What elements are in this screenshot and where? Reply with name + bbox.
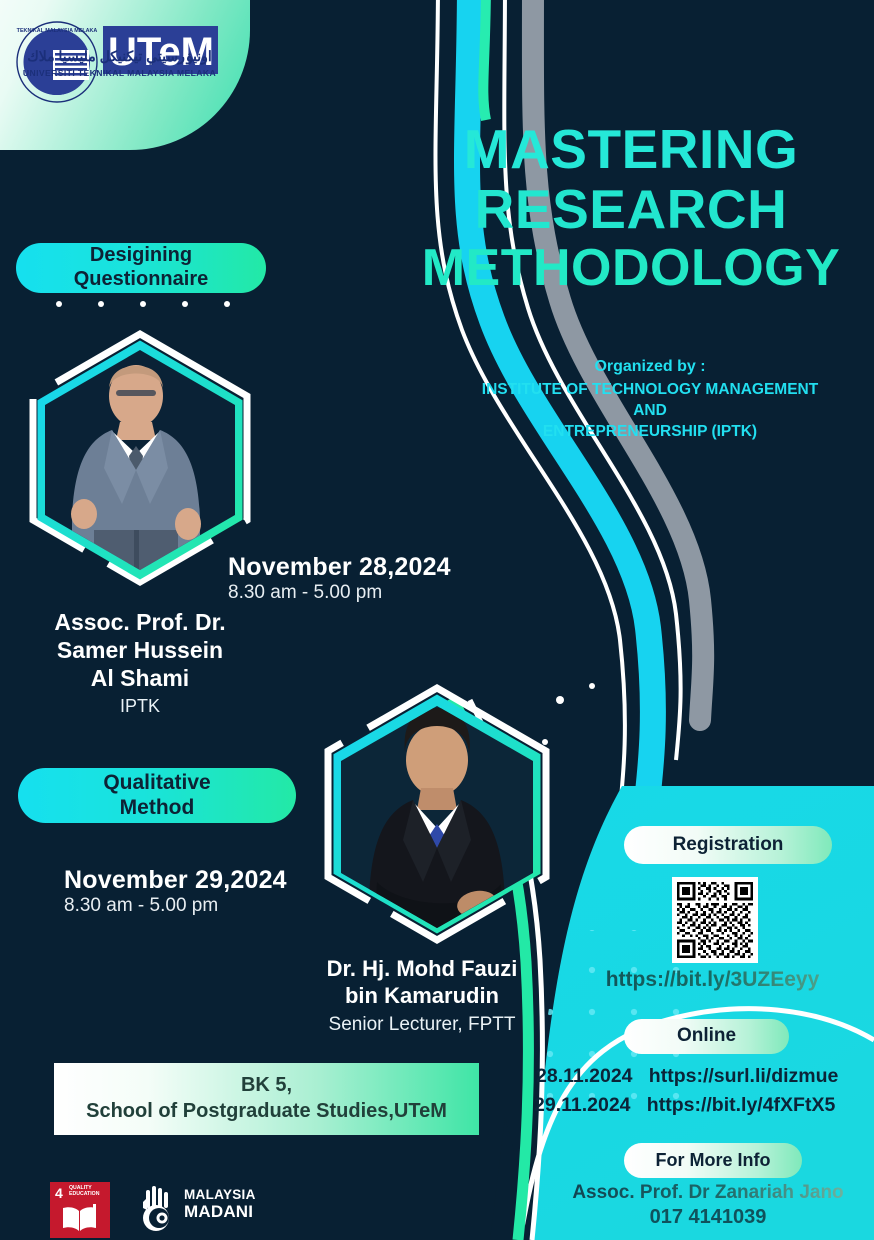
registration-heading: Registration bbox=[673, 834, 784, 856]
online-heading: Online bbox=[677, 1025, 736, 1047]
malaysia-madani-logo: MALAYSIA MADANI bbox=[138, 1184, 260, 1234]
topic-1-line-1: Desigining bbox=[74, 244, 208, 268]
contact-name: Assoc. Prof. Dr Zanariah Jano bbox=[548, 1182, 868, 1204]
poster-root: TEKNIKAL MALAYSIA MELAKA UTeM اونيۏرسيتي… bbox=[0, 0, 874, 1240]
organizer-line-2: AND bbox=[430, 400, 870, 421]
sdg-number: 4 bbox=[55, 1185, 63, 1201]
online-entry-2[interactable]: 29.11.2024 https://bit.ly/4fXFtX5 bbox=[534, 1094, 835, 1117]
topic-pill-designing-questionnaire: Desigining Questionnaire bbox=[16, 243, 266, 293]
speaker-1-name-line-3: Al Shami bbox=[10, 664, 270, 692]
madani-hand-crescent-icon bbox=[138, 1186, 182, 1232]
utem-full-name: UNIVERSITI TEKNIKAL MALAYSIA MELAKA bbox=[12, 68, 227, 78]
online-heading-pill: Online bbox=[624, 1019, 789, 1054]
utem-arabic-name: اونيۏرسيتي تيكنيكل مليسيا ملاك bbox=[12, 48, 227, 65]
organizer-block: Organized by : INSTITUTE OF TECHNOLOGY M… bbox=[430, 358, 870, 442]
session-1-date: November 28,2024 bbox=[228, 553, 451, 582]
registration-url[interactable]: https://bit.ly/3UZEeyy bbox=[560, 968, 865, 992]
more-info-heading: For More Info bbox=[656, 1150, 771, 1171]
session-2-time: 8.30 am - 5.00 pm bbox=[64, 895, 218, 917]
poster-title: MASTERING RESEARCH METHODOLOGY bbox=[400, 120, 862, 297]
madani-wordmark: MALAYSIA MADANI bbox=[184, 1188, 256, 1220]
topic-2-line-1: Qualitative bbox=[103, 771, 210, 796]
session-2-date: November 29,2024 bbox=[64, 866, 287, 895]
speaker-photo-1 bbox=[8, 318, 273, 583]
sdg-4-quality-education-logo: 4 QUALITY EDUCATION bbox=[50, 1182, 110, 1238]
speaker-photo-2 bbox=[305, 668, 570, 948]
svg-text:TEKNIKAL MALAYSIA MELAKA: TEKNIKAL MALAYSIA MELAKA bbox=[17, 28, 98, 34]
online-entry-1-url: https://surl.li/dizmue bbox=[649, 1065, 839, 1087]
qr-code-icon[interactable] bbox=[672, 877, 758, 963]
topic-2-line-2: Method bbox=[103, 796, 210, 821]
organized-by-label: Organized by : bbox=[430, 358, 870, 376]
speaker-1-affiliation: IPTK bbox=[10, 696, 270, 717]
session-1-time: 8.30 am - 5.00 pm bbox=[228, 582, 382, 604]
open-book-icon bbox=[60, 1202, 100, 1234]
sdg-label: QUALITY EDUCATION bbox=[69, 1186, 99, 1198]
organizer-line-1: INSTITUTE OF TECHNOLOGY MANAGEMENT bbox=[430, 379, 870, 400]
decorative-dot-row bbox=[56, 301, 230, 307]
title-line-3: METHODOLOGY bbox=[400, 240, 862, 297]
session-2-speaker: Dr. Hj. Mohd Fauzi bin Kamarudin Senior … bbox=[262, 956, 582, 1036]
qr-code-matrix bbox=[677, 882, 753, 958]
organizer-line-3: ENTREPRENEURSHIP (IPTK) bbox=[430, 421, 870, 442]
contact-phone[interactable]: 017 4141039 bbox=[548, 1206, 868, 1229]
utem-logo-icon: TEKNIKAL MALAYSIA MELAKA UTeM bbox=[15, 20, 220, 110]
online-entry-2-url: https://bit.ly/4fXFtX5 bbox=[647, 1094, 836, 1116]
speaker-2-name-line-1: Dr. Hj. Mohd Fauzi bbox=[262, 956, 582, 983]
madani-line-2: MADANI bbox=[184, 1203, 256, 1220]
venue-line-1: BK 5, bbox=[86, 1073, 447, 1099]
venue-banner: BK 5, School of Postgraduate Studies,UTe… bbox=[54, 1063, 479, 1135]
speaker-2-affiliation: Senior Lecturer, FPTT bbox=[262, 1014, 582, 1036]
registration-heading-pill: Registration bbox=[624, 826, 832, 864]
topic-pill-qualitative-method: Qualitative Method bbox=[18, 768, 296, 823]
title-line-1: MASTERING bbox=[400, 120, 862, 180]
speaker-2-name-line-2: bin Kamarudin bbox=[262, 983, 582, 1010]
session-1-speaker: Assoc. Prof. Dr. Samer Hussein Al Shami … bbox=[10, 608, 270, 717]
venue-line-2: School of Postgraduate Studies,UTeM bbox=[86, 1099, 447, 1125]
online-entry-1[interactable]: 28.11.2024 https://surl.li/dizmue bbox=[536, 1065, 838, 1088]
madani-line-1: MALAYSIA bbox=[184, 1188, 256, 1202]
online-entry-1-date: 28.11.2024 bbox=[536, 1065, 633, 1087]
topic-1-line-2: Questionnaire bbox=[74, 268, 208, 292]
speaker-1-name-line-2: Samer Hussein bbox=[10, 636, 270, 664]
online-entry-2-date: 29.11.2024 bbox=[534, 1094, 631, 1116]
more-info-heading-pill: For More Info bbox=[624, 1143, 802, 1178]
speaker-1-name-line-1: Assoc. Prof. Dr. bbox=[10, 608, 270, 636]
title-line-2: RESEARCH bbox=[400, 180, 862, 240]
